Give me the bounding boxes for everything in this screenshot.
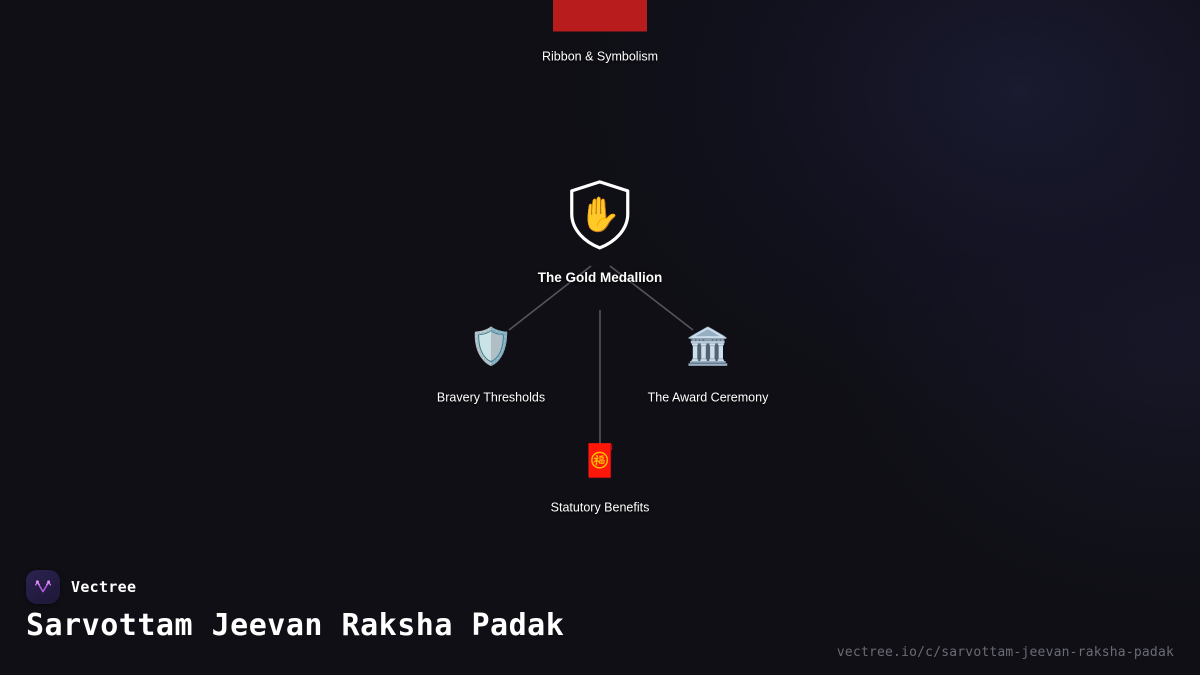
- concept-map-canvas: 🎗 Ribbon & Symbolism ✋ The Gold Medallio…: [0, 0, 1200, 675]
- node-the-gold-medallion[interactable]: ✋ The Gold Medallion: [538, 180, 663, 286]
- node-the-award-ceremony[interactable]: 🏛️ The Award Ceremony: [648, 325, 769, 406]
- raised-hand-icon: ✋: [579, 197, 621, 231]
- red-envelope-icon: 🧧: [580, 441, 620, 481]
- page-title: Sarvottam Jeevan Raksha Padak: [26, 608, 564, 643]
- vectree-logo-icon: [26, 570, 60, 604]
- node-label-ribbon-symbolism: Ribbon & Symbolism: [542, 50, 658, 65]
- footer: Vectree Sarvottam Jeevan Raksha Padak ve…: [0, 560, 1200, 675]
- classical-building-icon: 🏛️: [686, 325, 731, 369]
- node-label-bravery-thresholds: Bravery Thresholds: [437, 391, 545, 406]
- shield-outline-icon: ✋: [568, 180, 632, 250]
- brand-name: Vectree: [71, 578, 136, 596]
- node-label-the-award-ceremony: The Award Ceremony: [648, 391, 769, 406]
- node-bravery-thresholds[interactable]: 🛡️ Bravery Thresholds: [437, 325, 545, 406]
- node-label-the-gold-medallion: The Gold Medallion: [538, 270, 663, 286]
- medal-graphic: 🎗 Ribbon & Symbolism: [553, 0, 647, 78]
- shield-icon: 🛡️: [469, 325, 514, 369]
- node-statutory-benefits[interactable]: 🧧 Statutory Benefits: [551, 441, 650, 516]
- red-plate: [553, 0, 647, 32]
- node-label-statutory-benefits: Statutory Benefits: [551, 501, 650, 516]
- page-url: vectree.io/c/sarvottam-jeevan-raksha-pad…: [837, 645, 1174, 660]
- brand[interactable]: Vectree: [26, 570, 136, 604]
- node-ribbon-symbolism[interactable]: 🎗 Ribbon & Symbolism: [553, 0, 647, 78]
